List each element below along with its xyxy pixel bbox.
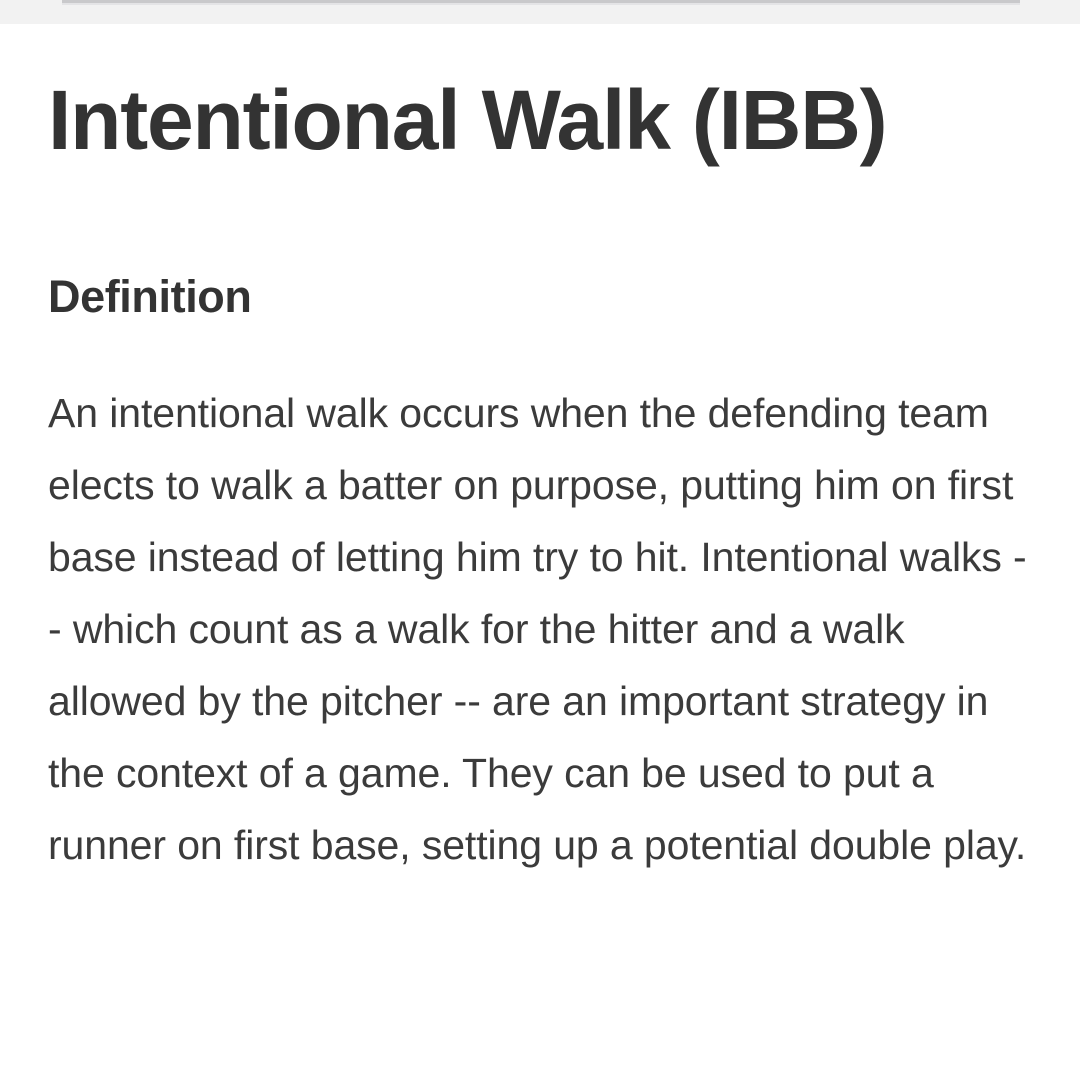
scrolled-header-strip (0, 0, 1080, 24)
article-content: Intentional Walk (IBB) Definition An int… (0, 24, 1080, 1069)
page-title: Intentional Walk (IBB) (48, 24, 1032, 162)
header-divider-rule (62, 0, 1020, 3)
section-heading-definition: Definition (48, 162, 1032, 319)
definition-paragraph: An intentional walk occurs when the defe… (48, 319, 1032, 881)
